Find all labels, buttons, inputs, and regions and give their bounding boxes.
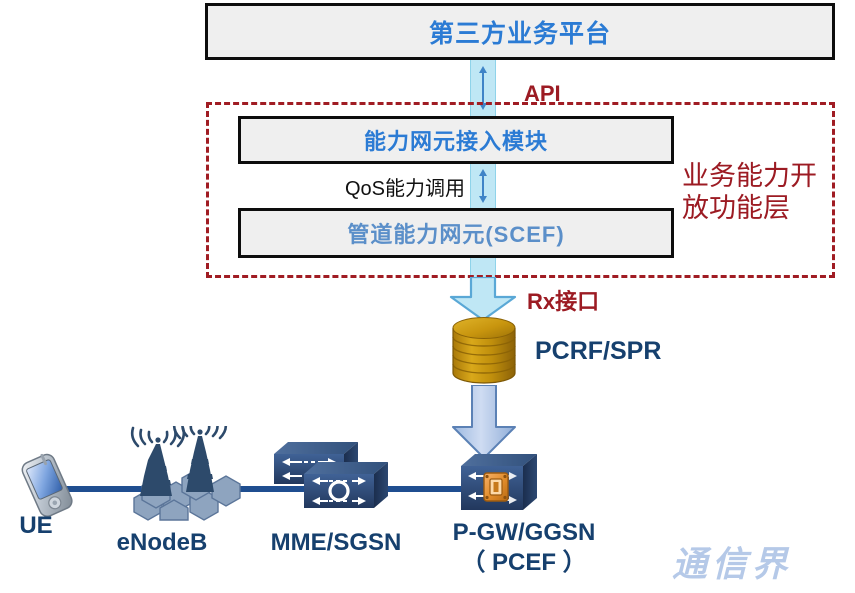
mme-sgsn-label: MME/SGSN (256, 529, 416, 557)
qos-invocation-label: QoS能力调用 (300, 172, 465, 201)
diagram-canvas: 第三方业务平台 能力网元接入模块 QoS能力调用 管道能力网元(SCEF) 业务… (0, 0, 855, 593)
api-interface-label: API (524, 81, 561, 107)
scef-box[interactable]: 管道能力网元(SCEF) (238, 208, 674, 258)
service-capability-layer-label: 业务能力开 放功能层 (682, 160, 842, 224)
pgw-ggsn-label: P-GW/GGSN （ PCEF ） (424, 518, 624, 578)
pcrf-spr-label: PCRF/SPR (535, 337, 661, 366)
database-cylinder-icon[interactable] (448, 316, 520, 386)
ue-label: UE (6, 512, 66, 540)
cell-tower-icon[interactable] (112, 426, 248, 527)
watermark-label: 通信界 (672, 536, 792, 587)
scef-label: 管道能力网元(SCEF) (347, 217, 564, 249)
enodeb-label: eNodeB (96, 529, 228, 557)
rx-interface-label: Rx接口 (527, 284, 599, 316)
capability-access-module-box[interactable]: 能力网元接入模块 (238, 116, 674, 164)
third-party-platform-label: 第三方业务平台 (429, 14, 611, 50)
gateway-icon[interactable] (457, 452, 541, 523)
router-icon[interactable] (268, 440, 392, 525)
capability-access-module-label: 能力网元接入模块 (364, 124, 548, 156)
third-party-platform-box[interactable]: 第三方业务平台 (205, 3, 835, 60)
